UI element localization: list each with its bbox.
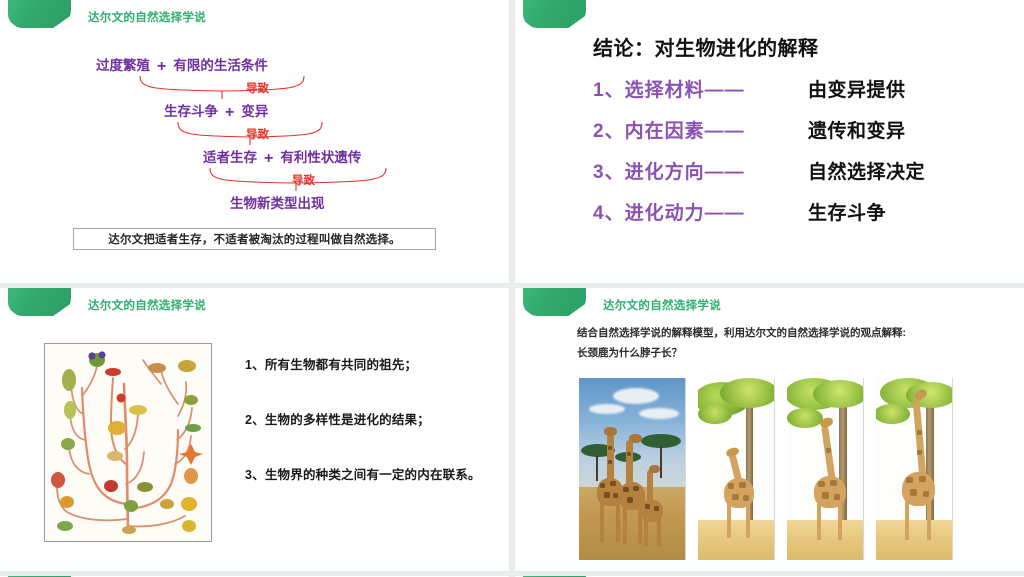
conclusion-answer-3: 自然选择决定 [808,157,925,184]
tree-of-life-image [44,343,212,542]
list-item: 2、内在因素—— 遗传和变异 [593,116,925,143]
slide-thumbnail-4[interactable]: 达尔文的自然选择学说 结合自然选择学说的解释模型，利用达尔文的自然选择学说的观点… [515,288,1024,571]
flow-row-3: 适者生存+有利性状遗传 [203,146,361,168]
conclusion-term-3: 3、进化方向—— [593,157,808,184]
slide-title-1: 达尔文的自然选择学说 [88,9,206,25]
question-prompt: 结合自然选择学说的解释模型，利用达尔文的自然选择学说的观点解释: 长颈鹿为什么脖… [577,324,906,364]
flow-term-overbreeding: 过度繁殖 [96,58,150,73]
conclusion-answer-2: 遗传和变异 [808,116,906,143]
list-item: 1、选择材料—— 由变异提供 [593,75,925,102]
connector-label-1: 导致 [246,80,269,96]
connector-label-3: 导致 [292,172,315,188]
prompt-line-2: 长颈鹿为什么脖子长？ [577,344,906,364]
flow-result: 生物新类型出现 [230,192,325,212]
giraffe-illustration-medium-neck [787,378,863,560]
flow-row-2: 生存斗争+变异 [164,100,268,122]
plus-sign-1: + [150,58,173,75]
conclusion-term-2: 2、内在因素—— [593,116,808,143]
flow-term-struggle: 生存斗争 [164,104,218,119]
brace-1 [138,74,308,100]
green-corner-banner [8,288,71,316]
conclusion-term-4: 4、进化动力—— [593,198,808,225]
slide-title-4: 达尔文的自然选择学说 [603,297,721,313]
green-corner-banner [523,288,586,316]
slide-thumbnail-2[interactable]: 结论：对生物进化的解释 1、选择材料—— 由变异提供 2、内在因素—— 遗传和变… [515,0,1024,283]
giraffe-photo-savanna [579,378,685,560]
giraffe-illustration-short-neck [698,378,774,560]
flow-term-variation: 变异 [241,104,268,119]
list-item: 1、所有生物都有共同的祖先； [245,354,481,373]
definition-caption-text: 达尔文把适者生存，不适者被淘汰的过程叫做自然选择。 [108,231,401,247]
tree-conclusion-points: 1、所有生物都有共同的祖先； 2、生物的多样性是进化的结果； 3、生物界的种类之… [245,354,481,483]
green-corner-banner [8,0,71,28]
flow-term-survival-of-fittest: 适者生存 [203,150,257,165]
conclusion-list: 1、选择材料—— 由变异提供 2、内在因素—— 遗传和变异 3、进化方向—— 自… [593,75,925,225]
flow-term-favorable-traits: 有利性状遗传 [280,150,361,165]
giraffe-image-row [579,378,952,560]
slide-thumbnail-1[interactable]: 达尔文的自然选择学说 过度繁殖+有限的生活条件 导致 生存斗争+变异 [0,0,509,283]
flow-term-limited-conditions: 有限的生活条件 [173,58,268,73]
conclusion-heading: 结论：对生物进化的解释 [593,32,819,61]
flow-row-1: 过度繁殖+有限的生活条件 [96,54,268,76]
list-item: 2、生物的多样性是进化的结果； [245,409,481,428]
giraffe-illustration-long-neck [876,378,952,560]
prompt-line-1: 结合自然选择学说的解释模型，利用达尔文的自然选择学说的观点解释: [577,324,906,344]
natural-selection-flow-diagram: 过度繁殖+有限的生活条件 导致 生存斗争+变异 导致 适者生存+ [0,44,509,244]
list-item: 3、进化方向—— 自然选择决定 [593,157,925,184]
definition-caption-box: 达尔文把适者生存，不适者被淘汰的过程叫做自然选择。 [73,228,436,250]
slide-thumbnail-3[interactable]: 达尔文的自然选择学说 [0,288,509,571]
list-item: 3、生物界的种类之间有一定的内在联系。 [245,464,481,483]
slide-deck: 达尔文的自然选择学说 过度繁殖+有限的生活条件 导致 生存斗争+变异 [0,0,1024,577]
conclusion-term-1: 1、选择材料—— [593,75,808,102]
plus-sign-3: + [257,150,280,167]
connector-label-2: 导致 [246,126,269,142]
list-item: 4、进化动力—— 生存斗争 [593,198,925,225]
plus-sign-2: + [218,104,241,121]
green-corner-banner [523,0,586,28]
conclusion-answer-1: 由变异提供 [808,75,906,102]
conclusion-answer-4: 生存斗争 [808,198,886,225]
slide-title-3: 达尔文的自然选择学说 [88,297,206,313]
tree-of-life-illustration [45,344,211,541]
